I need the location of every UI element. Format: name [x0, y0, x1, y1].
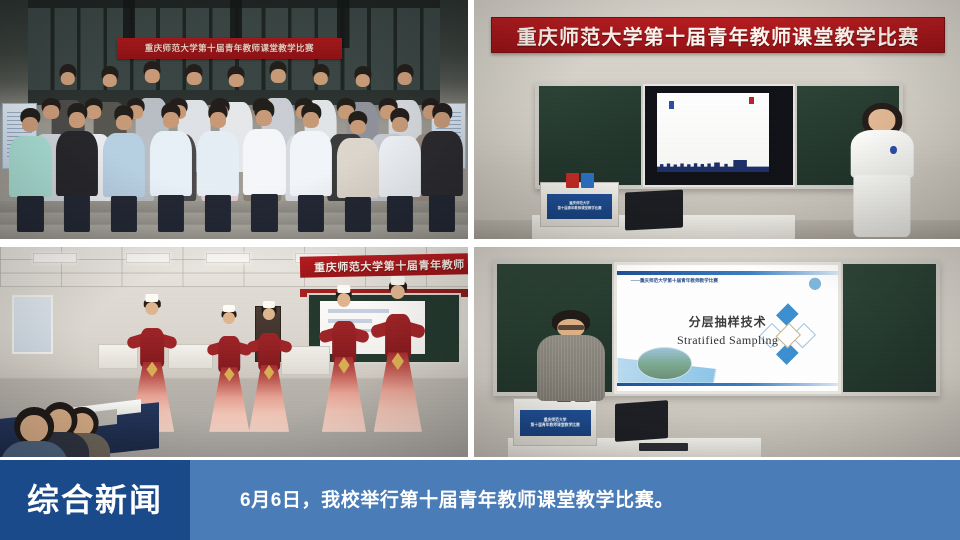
male-teacher-figure [537, 310, 605, 419]
caption-body: 6月6日，我校举行第十届青年教师课堂教学比赛。 [190, 460, 960, 540]
teacher-skirt [854, 175, 911, 237]
classroom-female-scene: 重庆师范大学第十届青年教师课堂教学比赛 [474, 0, 960, 239]
slide-title-english: Stratified Sampling [617, 333, 837, 348]
competition-banner: 重庆师范大学第十届青年教师课堂教学比赛 [491, 17, 945, 54]
teacher-shirt [537, 335, 605, 401]
caption-bar: 综合新闻 6月6日，我校举行第十届青年教师课堂教学比赛。 [0, 460, 960, 540]
group-photo-people [0, 0, 468, 239]
photo-classroom-female-teacher[interactable]: 重庆师范大学第十届青年教师课堂教学比赛 [474, 0, 960, 239]
dance-room-banner-text: 重庆师范大学第十届青年教师 [313, 256, 464, 275]
category-tag-label: 综合新闻 [27, 484, 163, 516]
projection-screen [645, 86, 793, 185]
classroom-male-scene: ——重庆师范大学第十届青年教师教学比赛 分层抽样技术 Stratified Sa… [474, 247, 960, 457]
slide-crowd-silhouette [657, 160, 770, 173]
desk-keyboard [639, 443, 688, 450]
slide-flag-icon [749, 97, 754, 104]
photo-group-photo[interactable]: 重庆师范大学第十届青年教师课堂教学比赛 [0, 0, 468, 239]
photo-dance-performance[interactable]: 重庆师范大学第十届青年教师 [0, 247, 468, 457]
teacher-glasses [558, 325, 584, 329]
lectern: 重庆师范大学 第十届青年教师课堂教学比赛 [540, 182, 620, 227]
drink-cans [566, 173, 595, 187]
ceiling-light [33, 253, 77, 262]
slide-bottom-rule [617, 383, 837, 386]
caption-text: 6月6日，我校举行第十届青年教师课堂教学比赛。 [240, 491, 674, 510]
desk-monitor [615, 401, 668, 443]
desk-monitor [625, 190, 683, 231]
female-teacher-figure [848, 103, 916, 237]
slide-blue-marker [669, 101, 674, 109]
dance-scene: 重庆师范大学第十届青年教师 [0, 247, 468, 457]
dancer-figure [246, 308, 293, 432]
university-logo-icon [805, 277, 825, 293]
dance-room-banner: 重庆师范大学第十届青年教师 [299, 254, 468, 279]
ceiling-light [206, 253, 250, 262]
ceiling-light [126, 253, 170, 262]
side-window [12, 295, 53, 354]
lectern-sign-line2: 第十届青年教师课堂教学比赛 [530, 424, 579, 428]
competition-banner-text: 重庆师范大学第十届青年教师课堂教学比赛 [517, 21, 920, 50]
photo-classroom-male-teacher[interactable]: ——重庆师范大学第十届青年教师教学比赛 分层抽样技术 Stratified Sa… [474, 247, 960, 457]
presentation-slide: ——重庆师范大学第十届青年教师教学比赛 分层抽样技术 Stratified Sa… [617, 265, 837, 391]
teacher-badge [890, 146, 896, 154]
news-collage-page: 重庆师范大学第十届青年教师课堂教学比赛 [0, 0, 960, 540]
teacher-blouse [851, 130, 914, 178]
lectern-sign-line2: 第十届青年教师课堂教学比赛 [557, 207, 601, 210]
slide-campus-photo [637, 347, 692, 379]
dancer-figure [318, 293, 369, 432]
category-tag[interactable]: 综合新闻 [0, 460, 190, 540]
slide-canvas [657, 93, 770, 172]
photo-grid: 重庆师范大学第十届青年教师课堂教学比赛 [0, 0, 960, 457]
chalkboard-right-wing [841, 262, 938, 394]
chalkboard-left-wing [537, 84, 643, 187]
judge-figure [14, 407, 54, 451]
group-photo-scene: 重庆师范大学第十届青年教师课堂教学比赛 [0, 0, 468, 239]
lectern-sign: 重庆师范大学 第十届青年教师课堂教学比赛 [547, 194, 612, 219]
slide-title-chinese: 分层抽样技术 [617, 313, 837, 330]
dancer-figure [370, 285, 426, 432]
slide-subtitle: ——重庆师范大学第十届青年教师教学比赛 [631, 278, 718, 284]
slide-top-rule [617, 271, 837, 275]
